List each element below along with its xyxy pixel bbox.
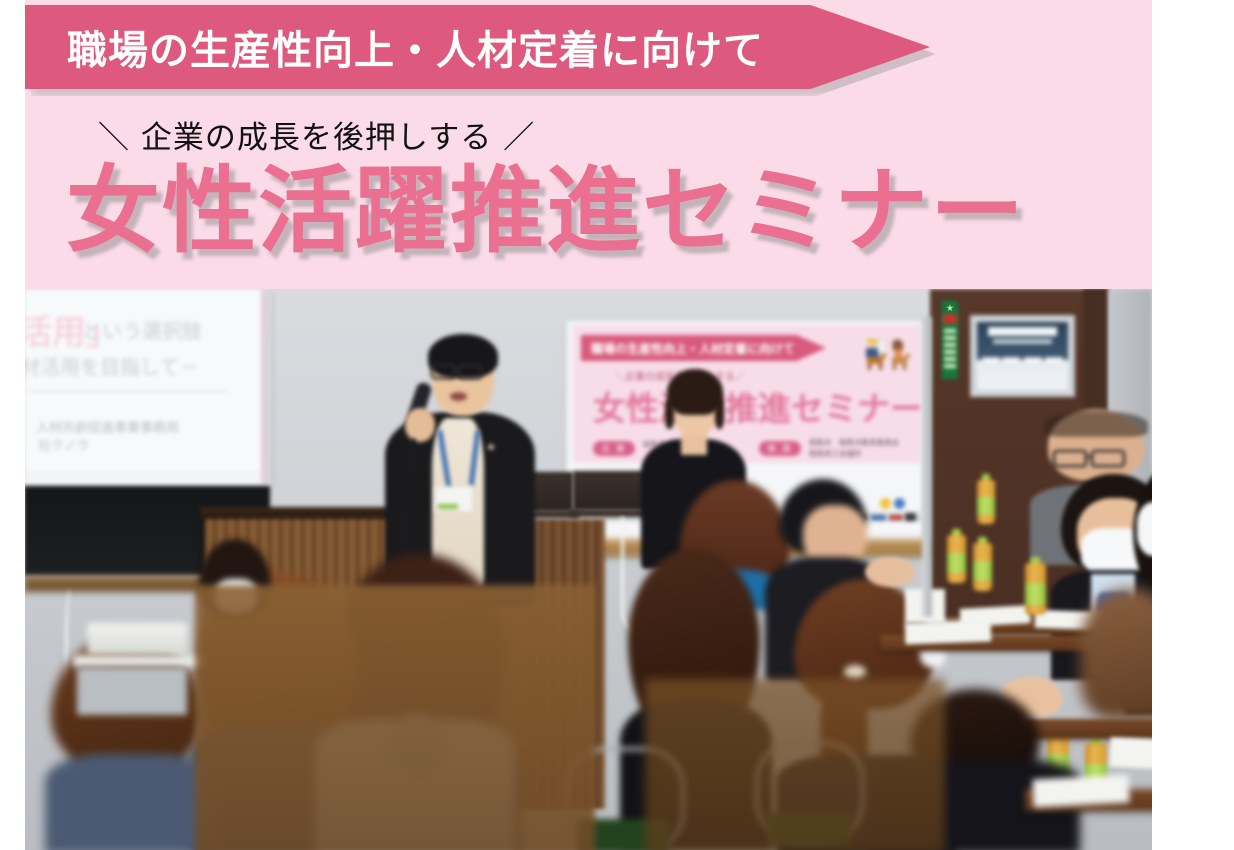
poster-title-band	[988, 327, 1057, 336]
sign-bar-4	[944, 350, 956, 354]
seminar-poster: 職場の生産性向上・人材定着に向けて ＼ 企業の成長を後押しする ／ 女性活躍推進…	[0, 0, 1234, 850]
support-badge: 後 援	[759, 441, 801, 456]
clothing	[45, 754, 217, 850]
bottle-body	[973, 543, 992, 591]
bottle-body	[977, 480, 995, 524]
support-line1: 相馬市 相馬市教育委員会	[809, 438, 899, 448]
poster-card-2	[1002, 357, 1019, 366]
marker-red	[889, 515, 903, 520]
projector-cart-body	[77, 667, 187, 715]
projection-screen-surface: 活用」 という選択肢 材活用を目指して－ 人材共創促進事業事務局 社クノウ	[25, 289, 261, 470]
sign-bar-6	[944, 364, 956, 368]
name-badge	[435, 486, 473, 512]
handout-paper-6	[1032, 775, 1129, 808]
support-line2: 相馬商工会議所	[809, 449, 862, 459]
poster-card-3	[1024, 357, 1041, 366]
event-banner-on-whiteboard: 職場の生産性向上・人材定着に向けて ＼企業の成長を後押しする／ 女性活躍推進セミ…	[573, 325, 921, 463]
ribbon-text: 職場の生産性向上・人材定着に向けて	[67, 18, 764, 76]
ribbon-banner: 職場の生産性向上・人材定着に向けて	[25, 5, 930, 89]
speaker-mouth	[450, 392, 467, 401]
hair-tie	[844, 665, 866, 679]
host-badge: 主 催	[593, 441, 635, 456]
sign-bar-3	[944, 343, 956, 347]
samurai-mascot-icon	[861, 331, 917, 375]
lapel-pin	[488, 444, 494, 450]
sign-bar-1	[944, 329, 956, 333]
bottle-label	[947, 553, 966, 573]
bottle-label	[1025, 583, 1046, 605]
poster-subtitle-band	[993, 339, 1051, 344]
staff-neck	[681, 433, 707, 455]
slide-line3: 人材共創促進事業事務局	[36, 417, 179, 436]
hair	[1044, 411, 1148, 437]
bottle-label	[973, 561, 992, 581]
staff-hair-side-left	[665, 399, 674, 429]
wooden-floor	[195, 585, 595, 850]
whiteboard-stand-post	[922, 317, 932, 617]
slide-divider	[28, 391, 228, 392]
participant-hand-2	[865, 557, 915, 587]
bottle-label	[977, 497, 995, 515]
whiteboard-eraser	[905, 513, 916, 521]
sign-red-band	[943, 314, 957, 324]
magnet-blue	[894, 498, 905, 509]
sign-bar-2	[944, 336, 956, 340]
slide-line2: 材活用を目指して－	[25, 351, 199, 380]
foreground-person-right-edge	[1080, 589, 1152, 719]
glasses-icon	[430, 361, 498, 381]
bottle-body	[1025, 563, 1046, 615]
tea-bottle-2	[947, 529, 966, 583]
poster-card-4	[1045, 357, 1062, 366]
event-banner-ribbon-text: 職場の生産性向上・人材定着に向けて	[591, 340, 795, 357]
poster-card-1	[982, 357, 999, 366]
wooden-floor-right	[645, 679, 945, 850]
tea-bottle-3	[973, 537, 992, 591]
projector-cart-shelf	[73, 655, 203, 667]
sign-bar-5	[944, 357, 956, 361]
projector	[87, 623, 187, 655]
seminar-photo: 活用」 という選択肢 材活用を目指して－ 人材共創促進事業事務局 社クノウ 職場…	[25, 289, 1152, 850]
speaker-hand	[405, 408, 435, 442]
ribbon-shape: 職場の生産性向上・人材定着に向けて	[25, 5, 930, 89]
handout-paper-3	[905, 620, 992, 645]
page-title: 女性活躍推進セミナー	[66, 163, 1026, 262]
handout-paper-5	[1109, 737, 1152, 771]
bottle-body	[947, 535, 966, 583]
event-banner-ribbon: 職場の生産性向上・人材定着に向けて	[581, 335, 826, 361]
framed-wall-poster	[970, 315, 1075, 397]
staff-hair-side-right	[715, 399, 724, 429]
slide-line4: 社クノウ	[38, 435, 89, 454]
subheadline: ＼ 企業の成長を後押しする ／	[98, 112, 535, 157]
slide-line1-small: という選択肢	[82, 315, 202, 344]
poster-artwork	[977, 322, 1068, 390]
projection-screen: 活用」 という選択肢 材活用を目指して－ 人材共創促進事業事務局 社クノウ	[25, 289, 269, 486]
tea-bottle-4	[1025, 557, 1046, 615]
screen-edge	[261, 289, 270, 486]
tea-bottle-1	[977, 474, 995, 524]
hair	[1080, 589, 1152, 719]
